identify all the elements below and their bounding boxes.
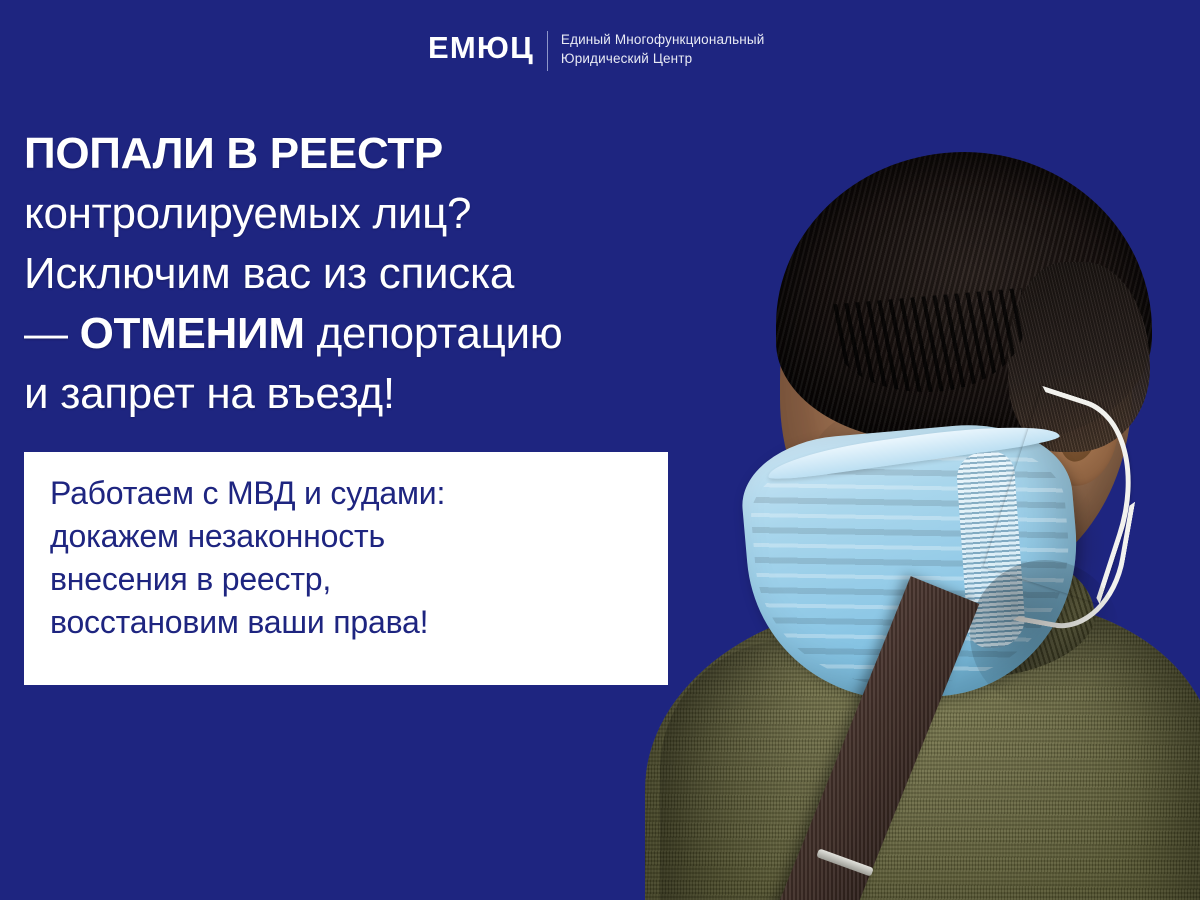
headline-line-4-dash: —	[24, 309, 80, 358]
headline-line-5: и запрет на въезд!	[24, 364, 764, 424]
poster-root: ЕМЮЦ Единый Многофункциональный Юридичес…	[0, 0, 1200, 900]
callout-box: Работаем с МВД и судами: докажем незакон…	[24, 452, 668, 685]
callout-line-4: восстановим ваши права!	[50, 601, 642, 644]
jaw-shadow	[970, 560, 1120, 710]
logo-wordmark: ЕМЮЦ	[428, 30, 547, 66]
headline-line-1: ПОПАЛИ В РЕЕСТР	[24, 124, 764, 184]
headline-line-4-rest: депортацию	[305, 309, 563, 358]
headline-line-3: Исключим вас из списка	[24, 244, 764, 304]
brand-logo[interactable]: ЕМЮЦ Единый Многофункциональный Юридичес…	[428, 30, 764, 71]
headline-line-4-emphasis: ОТМЕНИМ	[80, 309, 305, 358]
callout-line-3: внесения в реестр,	[50, 558, 642, 601]
headline-line-4: — ОТМЕНИМ депортацию	[24, 304, 764, 364]
headline-line-2: контролируемых лиц?	[24, 184, 764, 244]
logo-tagline-line-2: Юридический Центр	[561, 49, 765, 68]
callout-line-2: докажем незаконность	[50, 515, 642, 558]
logo-tagline-line-1: Единый Многофункциональный	[561, 30, 765, 49]
headline: ПОПАЛИ В РЕЕСТР контролируемых лиц? Искл…	[24, 124, 764, 424]
callout-line-1: Работаем с МВД и судами:	[50, 472, 642, 515]
logo-tagline: Единый Многофункциональный Юридический Ц…	[548, 30, 765, 68]
